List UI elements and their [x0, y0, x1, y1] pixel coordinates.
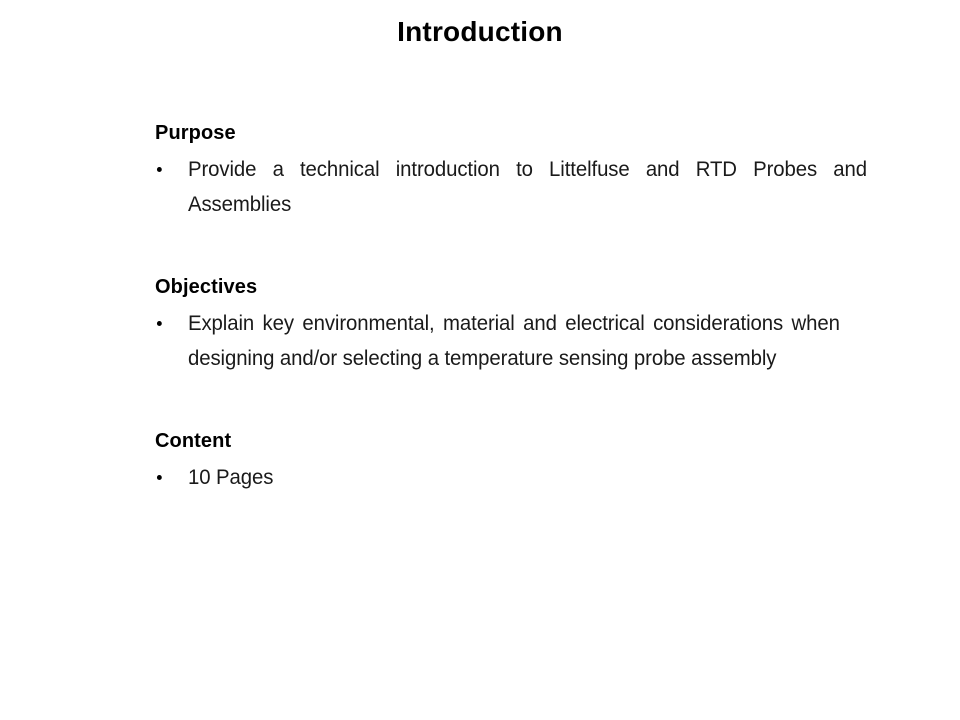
section-spacer — [155, 376, 845, 426]
bullet-list-objectives: Explain key environmental, material and … — [155, 306, 845, 376]
page-title: Introduction — [0, 14, 960, 50]
list-item-text: 10 Pages — [188, 466, 273, 489]
section-content: Content 10 Pages — [155, 426, 845, 495]
section-spacer — [155, 222, 845, 272]
list-item: 10 Pages — [155, 460, 824, 495]
list-item-text: Provide a technical introduction to Litt… — [188, 158, 867, 216]
list-item-text: Explain key environmental, material and … — [188, 312, 840, 370]
bullet-dot-icon — [157, 167, 162, 172]
bullet-list-content: 10 Pages — [155, 460, 845, 495]
section-purpose: Purpose Provide a technical introduction… — [155, 118, 845, 222]
section-objectives: Objectives Explain key environmental, ma… — [155, 272, 845, 376]
slide-canvas: Introduction Purpose Provide a technical… — [0, 0, 960, 720]
bullet-dot-icon — [157, 321, 162, 326]
bullet-dot-icon — [157, 475, 162, 480]
list-item: Provide a technical introduction to Litt… — [155, 152, 867, 222]
list-item: Explain key environmental, material and … — [155, 306, 840, 376]
bullet-list-purpose: Provide a technical introduction to Litt… — [155, 152, 845, 222]
section-heading-content: Content — [155, 426, 845, 456]
slide-body: Purpose Provide a technical introduction… — [155, 118, 845, 495]
section-heading-purpose: Purpose — [155, 118, 845, 148]
section-heading-objectives: Objectives — [155, 272, 845, 302]
